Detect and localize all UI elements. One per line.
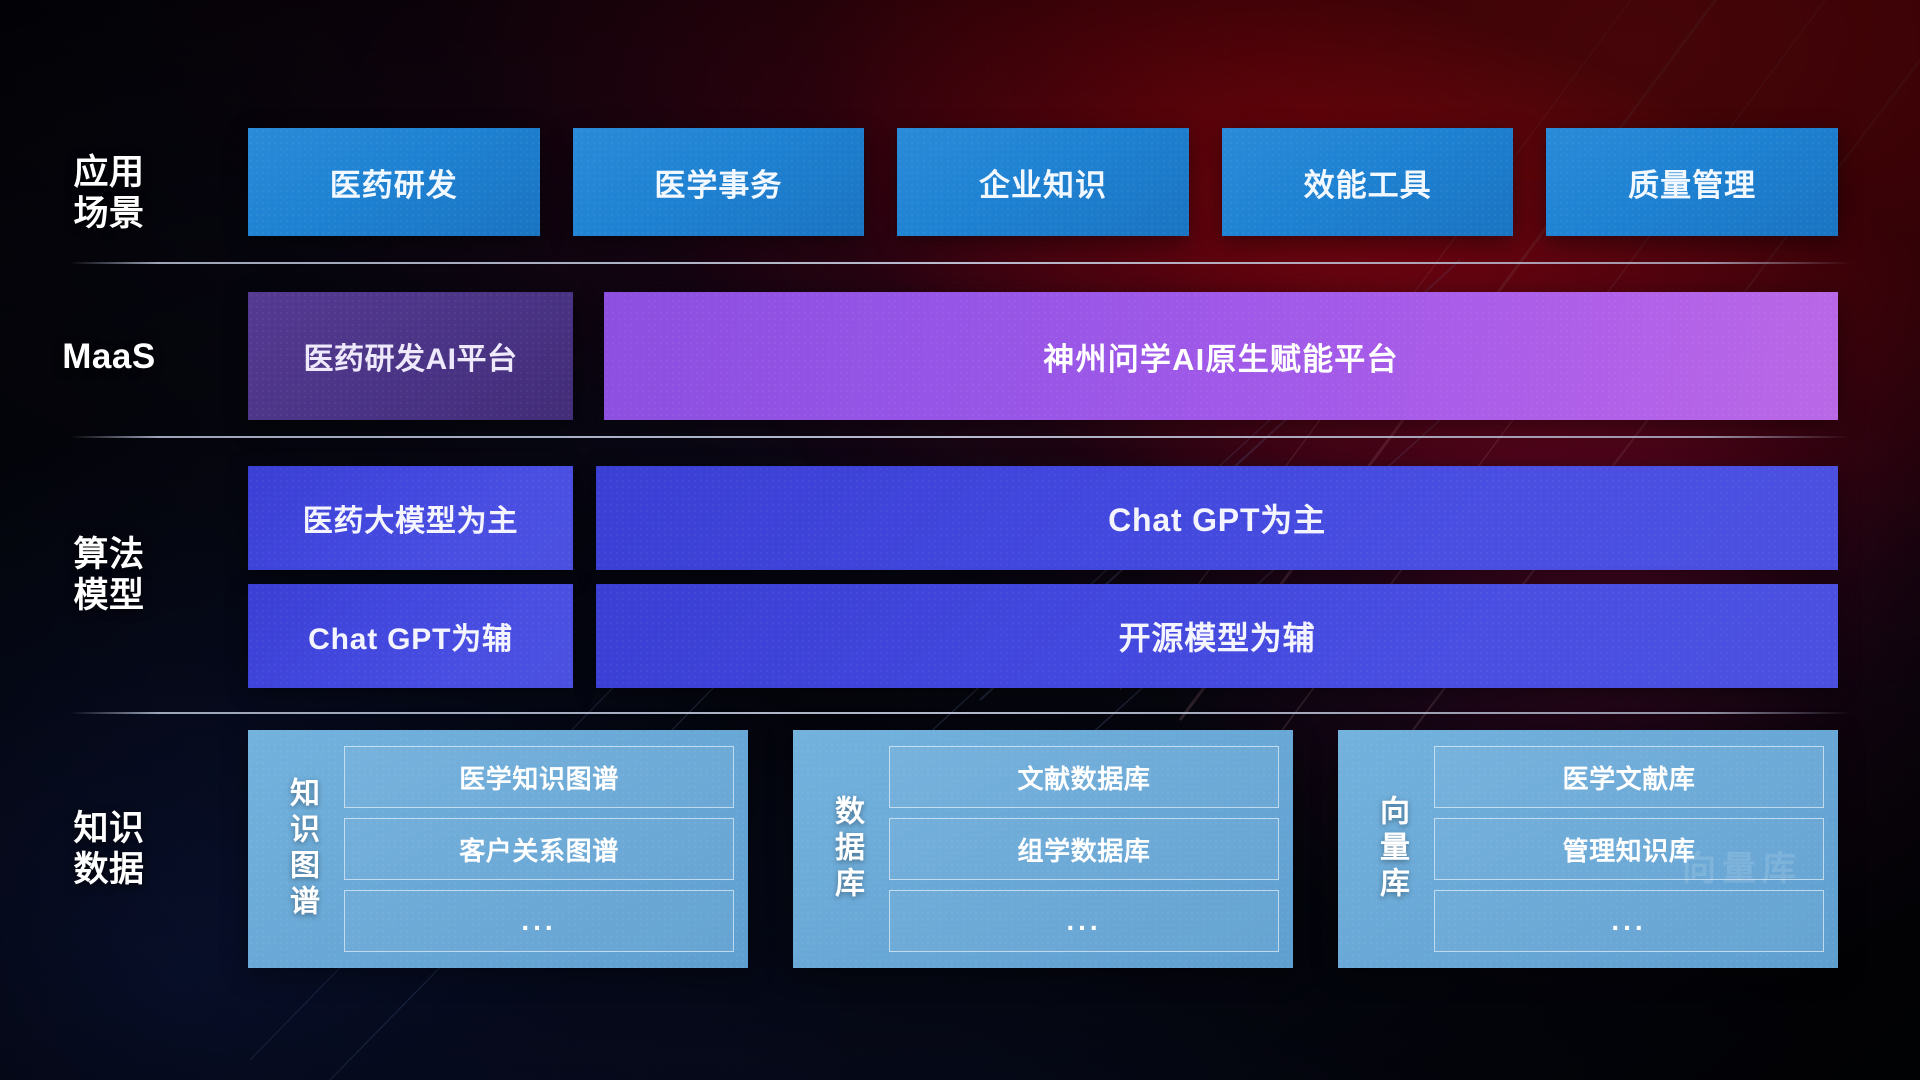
maas-row: MaaS 医药研发AI平台 神州问学AI原生赋能平台: [0, 292, 1920, 420]
knowledge-item-label: 组学数据库: [1017, 831, 1150, 868]
app-card-medical-rd[interactable]: 医药研发: [248, 128, 540, 236]
app-card-label: 医药研发: [330, 160, 458, 205]
maas-card-shenzhou-wenxue-platform[interactable]: 神州问学AI原生赋能平台: [604, 292, 1838, 420]
knowledge-data-row: 知识 数据 知识图谱 医学知识图谱 客户关系图谱 ... 数据库 文献数: [0, 730, 1920, 968]
row-label-algorithm-line1: 算法: [0, 534, 218, 575]
knowledge-group-title: 数据库: [803, 746, 889, 952]
app-card-medical-affairs[interactable]: 医学事务: [573, 128, 865, 236]
knowledge-item-management-knowledge-store[interactable]: 管理知识库: [1434, 818, 1824, 880]
maas-card-pharma-ai-platform[interactable]: 医药研发AI平台: [248, 292, 573, 420]
knowledge-item-more[interactable]: ...: [344, 890, 734, 952]
knowledge-item-label: ...: [521, 905, 556, 937]
knowledge-item-medical-knowledge-graph[interactable]: 医学知识图谱: [344, 746, 734, 808]
algo-card-label: Chat GPT为主: [1108, 495, 1326, 541]
algo-card-label: 开源模型为辅: [1119, 613, 1316, 659]
maas-card-label: 神州问学AI原生赋能平台: [1043, 334, 1398, 379]
knowledge-group-title: 向量库: [1348, 746, 1434, 952]
knowledge-group-knowledge-graph: 知识图谱 医学知识图谱 客户关系图谱 ...: [248, 730, 748, 968]
row-label-applications-line2: 场景: [0, 193, 218, 234]
maas-card-label: 医药研发AI平台: [304, 334, 518, 378]
app-card-quality-management[interactable]: 质量管理: [1546, 128, 1838, 236]
knowledge-group-database: 数据库 文献数据库 组学数据库 ...: [793, 730, 1293, 968]
knowledge-item-label: 文献数据库: [1017, 759, 1150, 796]
knowledge-item-label: ...: [1611, 905, 1646, 937]
knowledge-group-item-list: 文献数据库 组学数据库 ...: [889, 746, 1279, 952]
knowledge-item-customer-relation-graph[interactable]: 客户关系图谱: [344, 818, 734, 880]
algo-card-chatgpt-secondary[interactable]: Chat GPT为辅: [248, 584, 573, 688]
algo-card-label: Chat GPT为辅: [308, 614, 513, 658]
knowledge-item-more[interactable]: ...: [1434, 890, 1824, 952]
knowledge-item-label: 医学文献库: [1562, 759, 1695, 796]
knowledge-item-medical-literature-store[interactable]: 医学文献库: [1434, 746, 1824, 808]
knowledge-item-label: 医学知识图谱: [459, 759, 619, 796]
app-card-label: 效能工具: [1304, 160, 1432, 205]
knowledge-item-label: ...: [1066, 905, 1101, 937]
algo-card-opensource-secondary[interactable]: 开源模型为辅: [596, 584, 1838, 688]
knowledge-item-omics-database[interactable]: 组学数据库: [889, 818, 1279, 880]
row-label-maas: MaaS: [0, 336, 218, 377]
divider-maas-algorithm: [70, 436, 1850, 438]
divider-applications-maas: [70, 262, 1850, 264]
row-label-knowledge-line2: 数据: [0, 849, 218, 890]
knowledge-item-literature-database[interactable]: 文献数据库: [889, 746, 1279, 808]
knowledge-group-item-list: 医学文献库 管理知识库 ...: [1434, 746, 1824, 952]
divider-algorithm-knowledge: [70, 712, 1850, 714]
knowledge-item-label: 客户关系图谱: [459, 831, 619, 868]
algo-card-label: 医药大模型为主: [303, 496, 519, 540]
app-card-label: 质量管理: [1628, 160, 1756, 205]
row-label-applications: 应用 场景: [0, 152, 218, 235]
knowledge-group-vector-store: 向量库 向量库 医学文献库 管理知识库 ...: [1338, 730, 1838, 968]
app-card-enterprise-knowledge[interactable]: 企业知识: [897, 128, 1189, 236]
algo-card-pharma-large-model-primary[interactable]: 医药大模型为主: [248, 466, 573, 570]
algorithm-model-row: 算法 模型 医药大模型为主 Chat GPT为主 Chat GPT为辅 开源模型…: [0, 466, 1920, 688]
row-label-algorithm: 算法 模型: [0, 534, 218, 617]
algo-card-chatgpt-primary[interactable]: Chat GPT为主: [596, 466, 1838, 570]
knowledge-item-more[interactable]: ...: [889, 890, 1279, 952]
row-label-applications-line1: 应用: [0, 152, 218, 193]
app-card-label: 企业知识: [979, 160, 1107, 205]
knowledge-item-label: 管理知识库: [1562, 831, 1695, 868]
app-card-label: 医学事务: [654, 160, 782, 205]
architecture-diagram: 应用 场景 医药研发 医学事务 企业知识 效能工具 质量管理 MaaS 医药研发: [0, 0, 1920, 1080]
knowledge-group-item-list: 医学知识图谱 客户关系图谱 ...: [344, 746, 734, 952]
application-scenario-row: 应用 场景 医药研发 医学事务 企业知识 效能工具 质量管理: [0, 128, 1920, 236]
app-card-efficiency-tools[interactable]: 效能工具: [1222, 128, 1514, 236]
row-label-knowledge-line1: 知识: [0, 808, 218, 849]
application-card-track: 医药研发 医学事务 企业知识 效能工具 质量管理: [248, 128, 1838, 236]
row-label-algorithm-line2: 模型: [0, 575, 218, 616]
knowledge-group-title: 知识图谱: [258, 746, 344, 952]
row-label-knowledge: 知识 数据: [0, 808, 218, 891]
